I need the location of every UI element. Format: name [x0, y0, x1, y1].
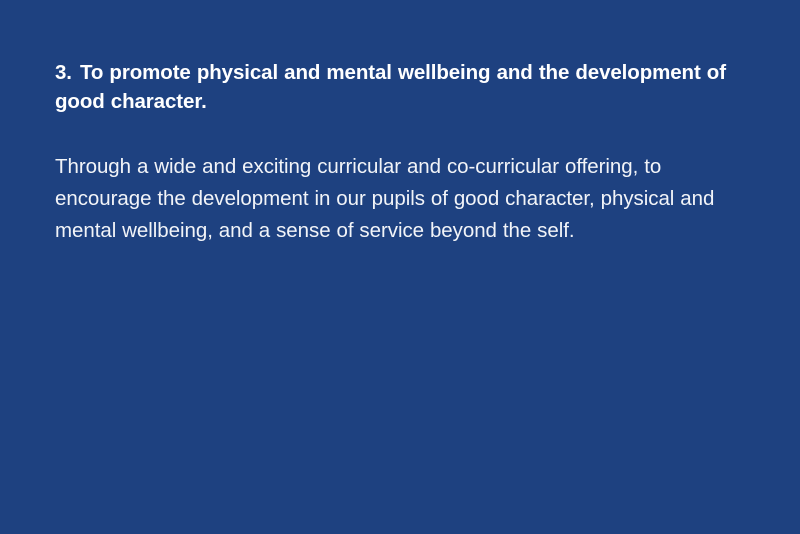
slide-canvas: 3. To promote physical and mental wellbe… [0, 0, 800, 534]
objective-number: 3. [55, 61, 72, 84]
objective-content-block: 3. To promote physical and mental wellbe… [55, 58, 755, 247]
objective-heading: 3. To promote physical and mental wellbe… [55, 58, 755, 116]
objective-heading-text: To promote physical and mental wellbeing… [55, 61, 726, 113]
objective-body-text: Through a wide and exciting curricular a… [55, 151, 755, 247]
